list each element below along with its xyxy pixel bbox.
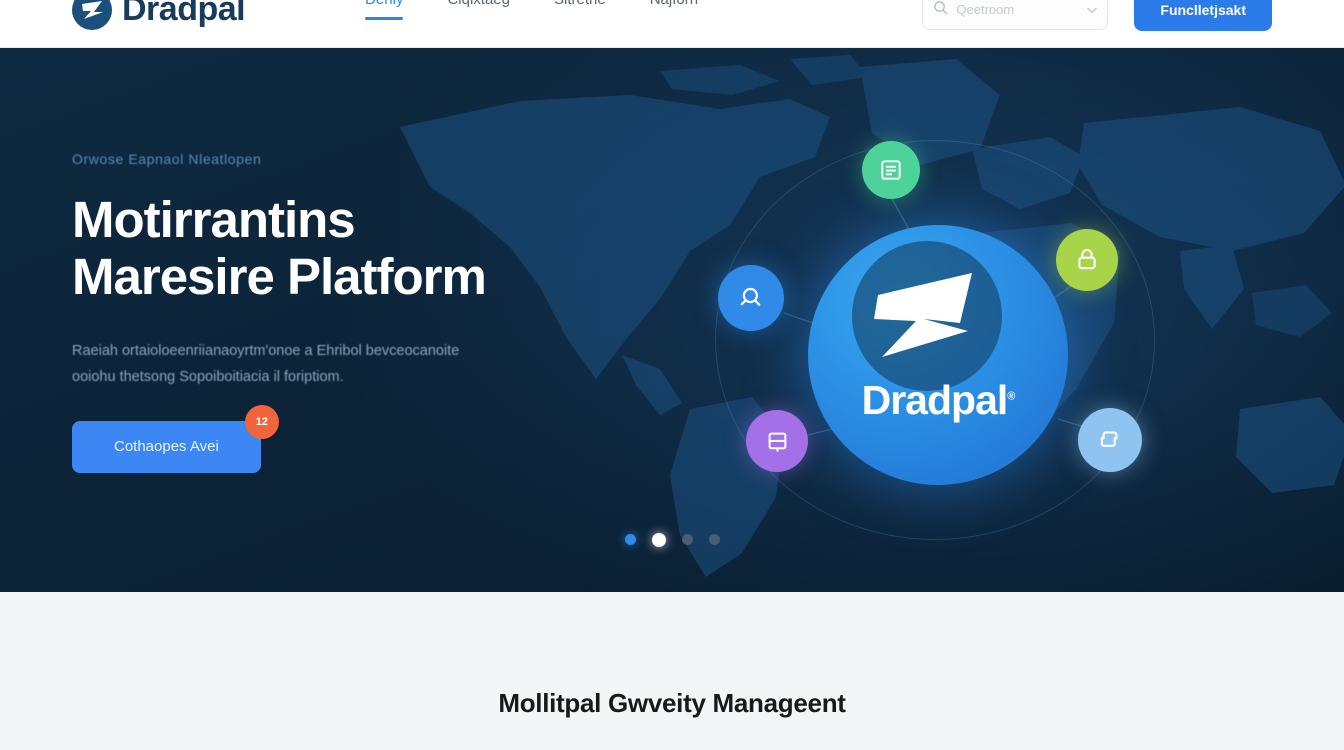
cloud-icon (1096, 426, 1124, 454)
search-input[interactable]: Qeetroom (922, 0, 1108, 30)
chevron-down-icon[interactable] (1087, 1, 1097, 19)
features-section: Mollitpal Gwveity Manageent (0, 592, 1344, 750)
document-icon (878, 157, 904, 183)
brand-name: Dradpal (122, 0, 245, 29)
orbit-node-search[interactable] (718, 265, 784, 331)
header-cta-button[interactable]: Funclletjsakt (1134, 0, 1272, 31)
swoosh-logo-icon (864, 261, 988, 371)
nav-item-label: Najforn (650, 0, 698, 8)
database-icon (764, 428, 791, 455)
orbit-node-lock[interactable] (1056, 229, 1118, 291)
page-root: Dradpal Denly Ciqixtaeg Sitretne Najforn (0, 0, 1344, 750)
nav-item-3[interactable]: Najforn (650, 0, 698, 28)
cta-notification-badge: 12 (245, 405, 279, 439)
hero-title: Motirrantins Maresire Platform (72, 191, 542, 305)
orbit-graphic: Dradpal® (660, 105, 1220, 575)
section-title: Mollitpal Gwveity Manageent (0, 688, 1344, 719)
carousel-dot-3[interactable] (709, 534, 720, 545)
brand-logo[interactable]: Dradpal (72, 0, 245, 30)
globe-label: Dradpal® (808, 377, 1068, 424)
nav-item-label: Denly (365, 0, 403, 8)
orbit-node-cloud[interactable] (1078, 408, 1142, 472)
carousel-dot-2[interactable] (682, 534, 693, 545)
hero-title-line-1: Motirrantins (72, 191, 355, 248)
hero-eyebrow: Orwose Eapnaol Nleatlopen (72, 151, 542, 167)
search-placeholder: Qeetroom (956, 2, 1079, 17)
lock-icon (1073, 246, 1101, 274)
hero-title-line-2: Maresire Platform (72, 248, 486, 305)
carousel-dot-1-active[interactable] (652, 533, 666, 547)
globe-label-text: Dradpal (862, 377, 1008, 423)
nav-active-underline (365, 17, 403, 20)
search-icon (736, 283, 766, 313)
header-actions: Qeetroom Funclletjsakt (922, 0, 1272, 31)
hero-cta-wrapper: Cothaopes Avei 12 (72, 421, 261, 473)
hero-description: Raeiah ortaioloeenriianaoyrtm'onoe a Ehr… (72, 339, 502, 391)
carousel-dot-0[interactable] (625, 534, 636, 545)
nav-item-2[interactable]: Sitretne (554, 0, 606, 28)
hero-text-block: Orwose Eapnaol Nleatlopen Motirrantins M… (72, 151, 542, 473)
nav-item-label: Ciqixtaeg (447, 0, 510, 8)
nav-item-1[interactable]: Ciqixtaeg (447, 0, 510, 28)
site-header: Dradpal Denly Ciqixtaeg Sitretne Najforn (0, 0, 1344, 48)
nav-item-label: Sitretne (554, 0, 606, 8)
trademark-symbol: ® (1007, 390, 1014, 402)
search-icon (933, 0, 948, 20)
swoosh-logo-icon (72, 0, 112, 30)
orbit-node-database[interactable] (746, 410, 808, 472)
hero-banner: Orwose Eapnaol Nleatlopen Motirrantins M… (0, 47, 1344, 592)
orbit-node-document[interactable] (862, 141, 920, 199)
carousel-dots (0, 534, 1344, 547)
hero-cta-button[interactable]: Cothaopes Avei (72, 421, 261, 473)
nav-item-0[interactable]: Denly (365, 0, 403, 28)
main-navigation: Denly Ciqixtaeg Sitretne Najforn (365, 0, 698, 28)
globe-logo: Dradpal® (808, 225, 1068, 485)
